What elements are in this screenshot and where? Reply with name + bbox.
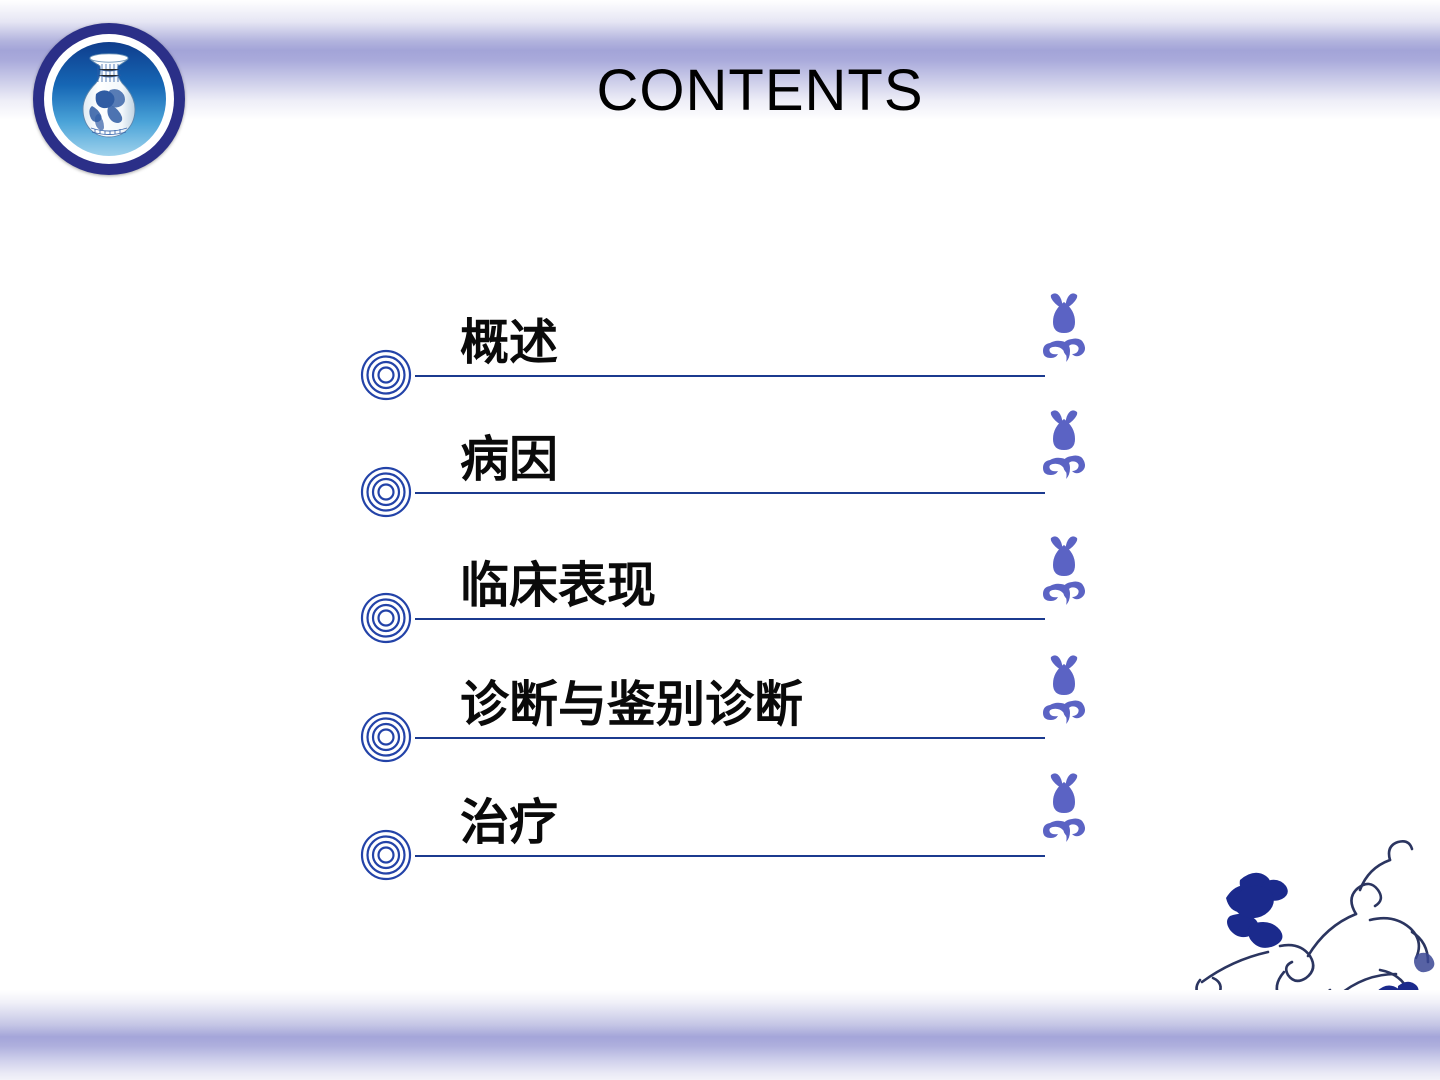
concentric-rings-icon	[360, 349, 412, 401]
lotus-bud-ornament-icon	[1036, 406, 1092, 496]
contents-item-label: 临床表现	[460, 561, 656, 610]
contents-item-label: 概述	[460, 318, 558, 367]
concentric-rings-icon	[360, 466, 412, 518]
lotus-bud-ornament-icon	[1036, 532, 1092, 622]
row-rule	[415, 375, 1045, 377]
row-rule	[415, 618, 1045, 620]
concentric-rings-icon	[360, 592, 412, 644]
concentric-rings-icon	[360, 711, 412, 763]
concentric-rings-icon	[360, 829, 412, 881]
contents-item-label: 病因	[460, 435, 558, 484]
row-rule	[415, 855, 1045, 857]
contents-list: 概述	[0, 0, 1440, 1080]
row-rule	[415, 492, 1045, 494]
contents-item-label: 诊断与鉴别诊断	[460, 680, 803, 729]
lotus-bud-ornament-icon	[1036, 769, 1092, 859]
contents-item-label: 治疗	[460, 798, 558, 847]
lotus-bud-ornament-icon	[1036, 651, 1092, 741]
lotus-bud-ornament-icon	[1036, 289, 1092, 379]
slide-canvas: CONTENTS 概述	[0, 0, 1440, 1080]
row-rule	[415, 737, 1045, 739]
